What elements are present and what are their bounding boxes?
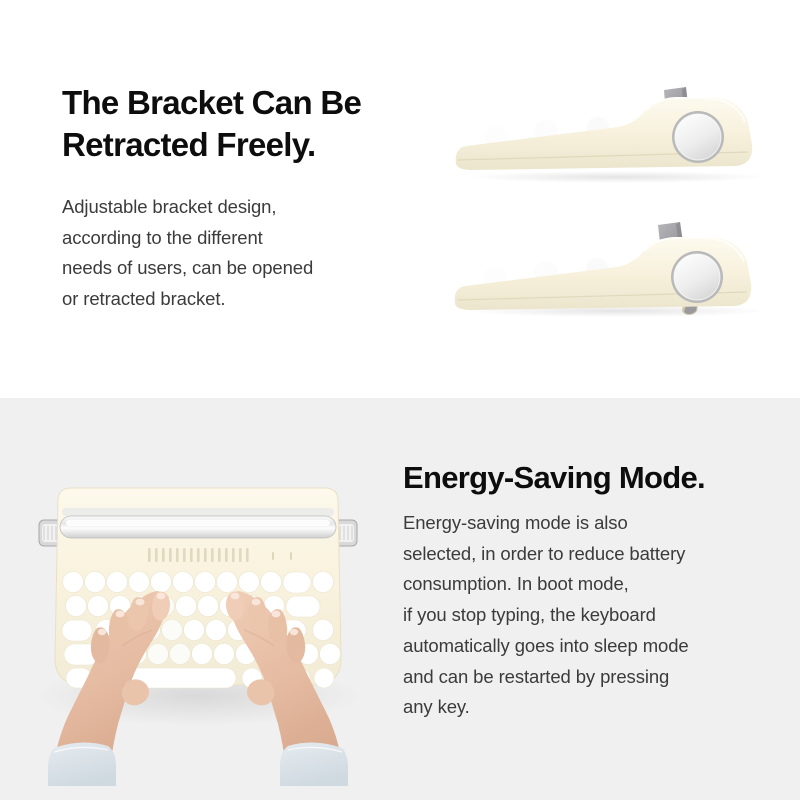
- tablet-slot: [62, 508, 334, 516]
- keyboard-side-view-bracket-retracted: [448, 205, 778, 323]
- page-title-bracket: The Bracket Can Be Retracted Freely.: [62, 82, 442, 165]
- product-feature-page: The Bracket Can Be Retracted Freely. Adj…: [0, 0, 800, 800]
- keyboard-side-svg-2: [448, 205, 778, 323]
- led-indicator-2: [290, 552, 292, 560]
- body-text-energy-saving: Energy-saving mode is also selected, in …: [403, 508, 783, 723]
- drop-shadow: [468, 171, 768, 183]
- body-text-bracket: Adjustable bracket design, according to …: [62, 192, 422, 315]
- tablet-holder-bar[interactable]: [60, 516, 336, 538]
- keyboard-top-view-with-hands: [18, 486, 378, 786]
- keyboard-side-view-bracket-open: [448, 78, 778, 188]
- page-title-energy-saving: Energy-Saving Mode.: [403, 458, 795, 497]
- panel-energy-saving-feature: Energy-Saving Mode. Energy-saving mode i…: [0, 398, 800, 800]
- keyboard-side-svg-1: [448, 78, 778, 188]
- speaker-vent: [148, 548, 249, 562]
- led-indicator-1: [272, 552, 274, 560]
- keyboard-top-svg: [18, 486, 378, 786]
- panel-bracket-feature: The Bracket Can Be Retracted Freely. Adj…: [0, 0, 800, 398]
- bar-highlight: [66, 520, 330, 526]
